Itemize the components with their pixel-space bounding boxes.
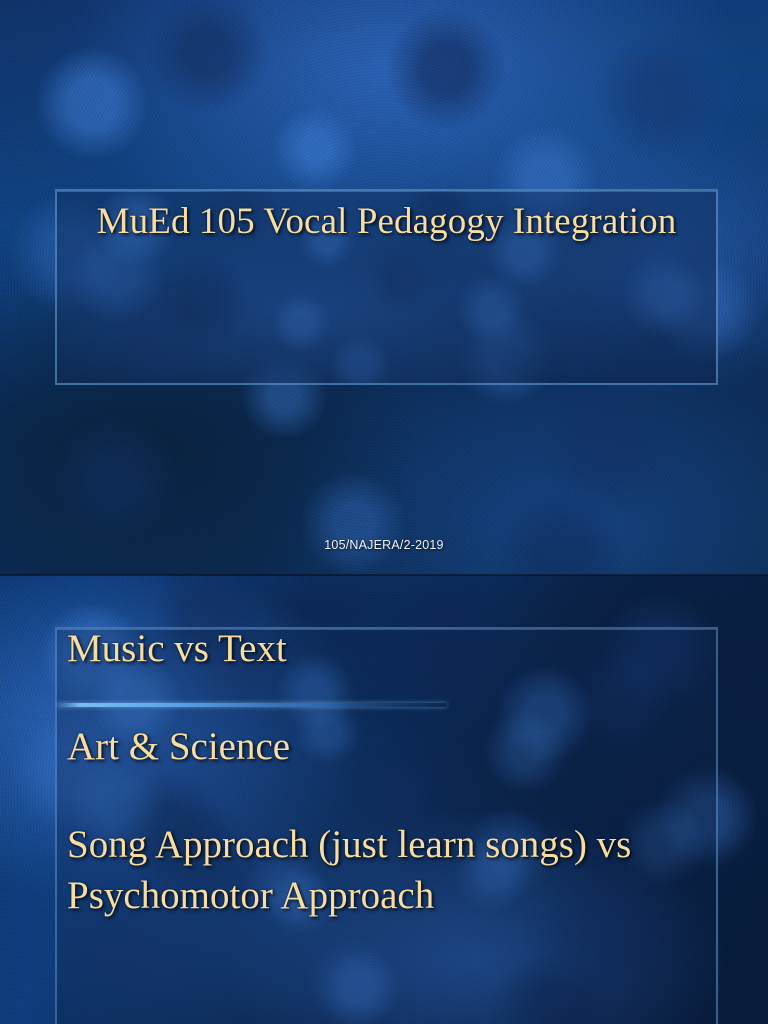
slide-2-content-slide: Music vs Text Art & Science Song Approac… xyxy=(0,575,768,1024)
content-line: Music vs Text xyxy=(67,627,706,674)
content-placeholder-box: Music vs Text Art & Science Song Approac… xyxy=(55,627,718,1024)
slide-title: MuEd 105 Vocal Pedagogy Integration xyxy=(57,191,716,246)
content-line-list: Music vs Text Art & Science Song Approac… xyxy=(67,627,706,921)
content-line: Song Approach (just learn songs) vs Psyc… xyxy=(67,819,706,921)
title-placeholder-box: MuEd 105 Vocal Pedagogy Integration xyxy=(55,189,718,385)
slide-1-title-slide: MuEd 105 Vocal Pedagogy Integration 105/… xyxy=(0,0,768,575)
presentation-page: MuEd 105 Vocal Pedagogy Integration 105/… xyxy=(0,0,768,1024)
content-line: Art & Science xyxy=(67,721,706,772)
slide-footer-credit: 105/NAJERA/2-2019 xyxy=(0,538,768,552)
slide-separator xyxy=(0,574,768,576)
accent-divider-rule xyxy=(57,703,447,707)
